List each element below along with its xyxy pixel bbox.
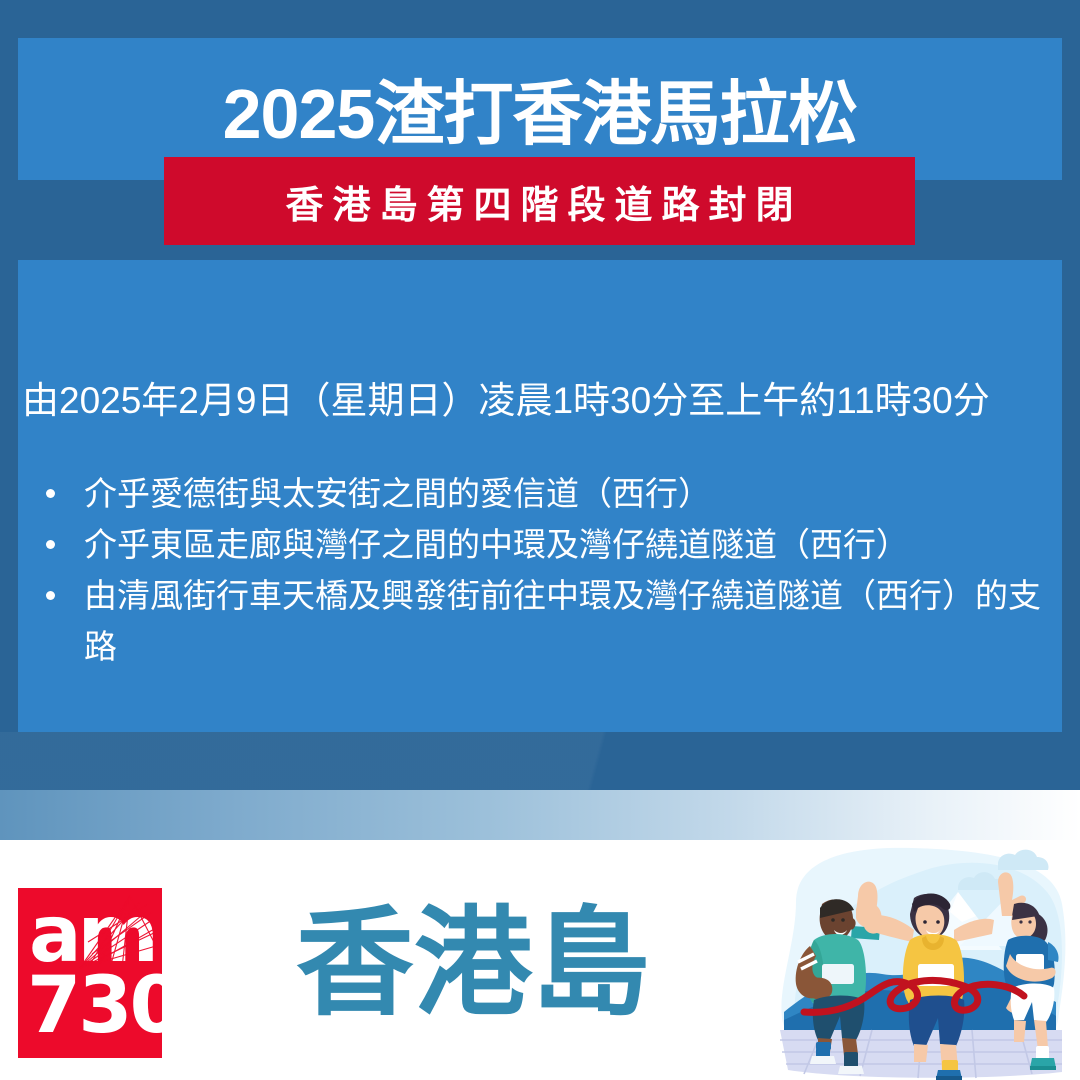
bullet-icon — [46, 540, 55, 549]
subtitle-label: 香港島第四階段道路封閉 — [276, 174, 802, 229]
closure-text: 介乎愛德街與太安街之間的愛信道（西行） — [84, 475, 711, 512]
closure-text: 由清風街行車天橋及興發街前往中環及灣仔繞道隧道（西行）的支路 — [84, 577, 1041, 665]
am730-logo: am 730 — [18, 888, 162, 1058]
closure-text: 介乎東區走廊與灣仔之間的中環及灣仔繞道隧道（西行） — [84, 526, 909, 563]
page-title: 2025渣打香港馬拉松 — [18, 76, 1062, 152]
bullet-icon — [46, 591, 55, 600]
list-item: 介乎東區走廊與灣仔之間的中環及灣仔繞道隧道（西行） — [22, 519, 1057, 570]
subtitle-badge: 香港島第四階段道路封閉 — [164, 157, 915, 245]
list-item: 介乎愛德街與太安街之間的愛信道（西行） — [22, 468, 1057, 519]
diagonal-shade-overlay — [0, 732, 1080, 790]
closure-time-range: 由2025年2月9日（星期日）凌晨1時30分至上午約11時30分 — [22, 378, 990, 424]
content-panel: 由2025年2月9日（星期日）凌晨1時30分至上午約11時30分 介乎愛德街與太… — [18, 260, 1062, 732]
am730-logo-line2: 730 — [27, 966, 162, 1046]
poster-canvas: 2025渣打香港馬拉松 香港島第四階段道路封閉 由2025年2月9日（星期日）凌… — [0, 0, 1080, 1080]
gradient-transition-band — [0, 790, 1080, 840]
closure-list: 介乎愛德街與太安街之間的愛信道（西行） 介乎東區走廊與灣仔之間的中環及灣仔繞道隧… — [22, 468, 1057, 672]
bullet-icon — [46, 489, 55, 498]
footer-region-label: 香港島 — [296, 900, 650, 1028]
three-marathon-runners-crossing-finish-line-illustration — [762, 842, 1080, 1080]
list-item: 由清風街行車天橋及興發街前往中環及灣仔繞道隧道（西行）的支路 — [22, 570, 1057, 672]
footer: am 730 — [0, 840, 1080, 1080]
